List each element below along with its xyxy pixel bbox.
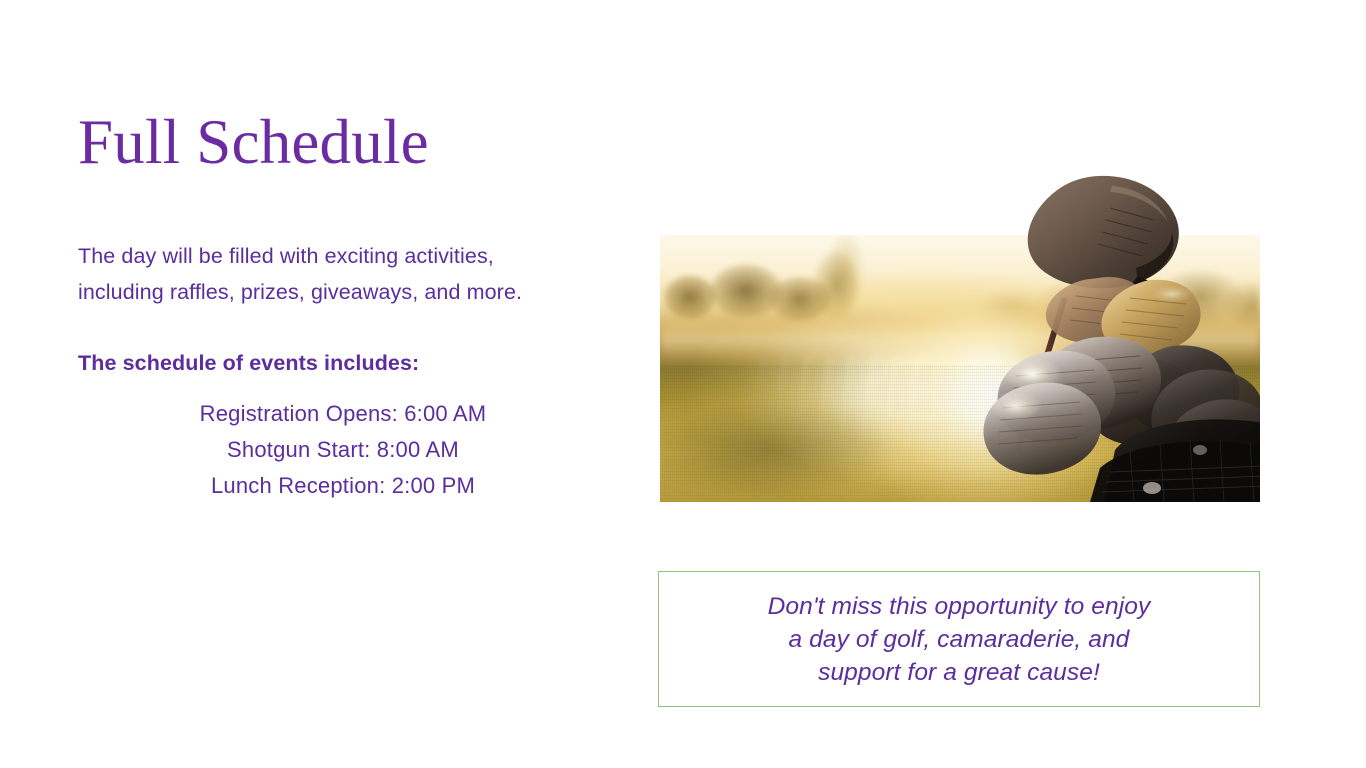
callout-text: Don't miss this opportunity to enjoy a d… — [768, 590, 1151, 689]
golf-course-sunrise-photo — [660, 150, 1260, 502]
schedule-heading: The schedule of events includes: — [78, 348, 419, 378]
list-item: Shotgun Start: 8:00 AM — [78, 432, 608, 468]
list-item: Registration Opens: 6:00 AM — [78, 396, 608, 432]
intro-line-2: including raffles, prizes, giveaways, an… — [78, 274, 608, 310]
golf-clubs-svg — [660, 150, 1260, 502]
callout-line-2: a day of golf, camaraderie, and — [768, 623, 1151, 656]
list-item: Lunch Reception: 2:00 PM — [78, 468, 608, 504]
intro-line-1: The day will be filled with exciting act… — [78, 238, 608, 274]
callout-line-1: Don't miss this opportunity to enjoy — [768, 590, 1151, 623]
callout-box: Don't miss this opportunity to enjoy a d… — [658, 571, 1260, 707]
golf-clubs-and-bag — [660, 150, 1260, 502]
left-content-column: Full Schedule The day will be filled wit… — [78, 0, 638, 768]
intro-paragraph: The day will be filled with exciting act… — [78, 238, 608, 310]
slide-canvas: Full Schedule The day will be filled wit… — [0, 0, 1366, 768]
page-title: Full Schedule — [78, 108, 429, 176]
schedule-list: Registration Opens: 6:00 AM Shotgun Star… — [78, 396, 608, 504]
callout-line-3: support for a great cause! — [768, 656, 1151, 689]
